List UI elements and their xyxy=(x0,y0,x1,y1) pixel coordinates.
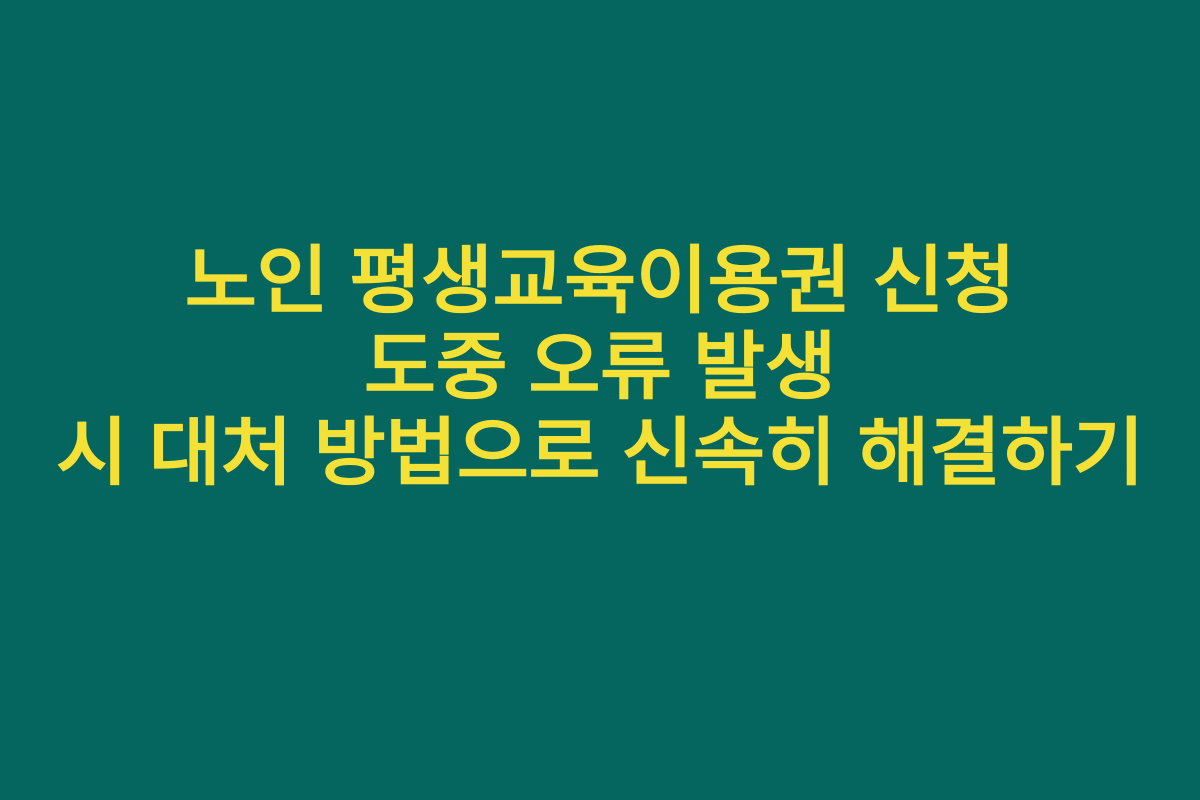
headline-line-2: 도중 오류 발생 xyxy=(0,324,1200,410)
headline-line-3: 시 대처 방법으로 신속히 해결하기 xyxy=(0,410,1200,496)
headline-text-block: 노인 평생교육이용권 신청 도중 오류 발생 시 대처 방법으로 신속히 해결하… xyxy=(0,238,1200,496)
banner-canvas: 노인 평생교육이용권 신청 도중 오류 발생 시 대처 방법으로 신속히 해결하… xyxy=(0,0,1200,800)
headline-line-1: 노인 평생교육이용권 신청 xyxy=(0,238,1200,324)
